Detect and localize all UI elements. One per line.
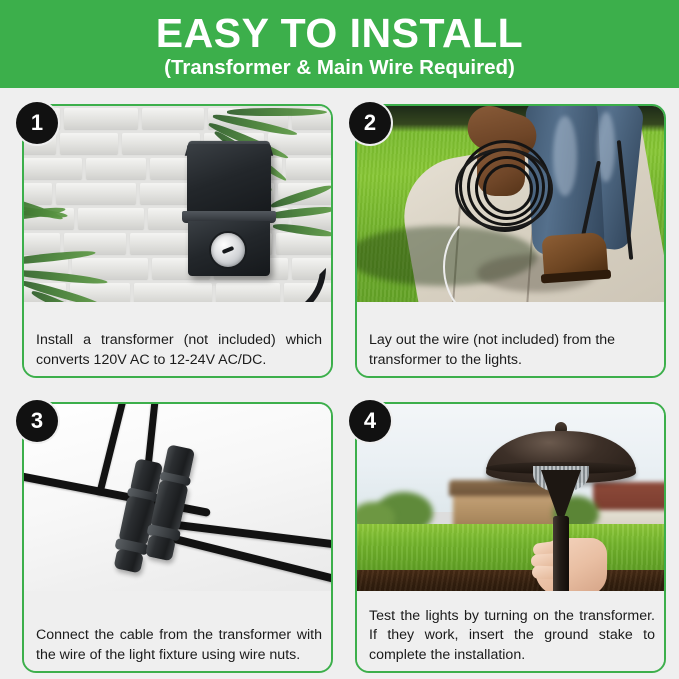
page-title: EASY TO INSTALL [156, 11, 523, 55]
step-badge-1: 1 [16, 102, 58, 144]
cable-connectors-photo [24, 404, 331, 591]
step-badge-2: 2 [349, 102, 391, 144]
installing-path-light-photo [357, 404, 664, 591]
transformer-on-brick-wall-photo [24, 106, 331, 302]
palm-frond-group-left [24, 192, 100, 252]
step-card-3: Connect the cable from the transformer w… [22, 402, 333, 673]
header-banner: EASY TO INSTALL (Transformer & Main Wire… [0, 0, 679, 88]
step-caption-3: Connect the cable from the transformer w… [24, 619, 331, 671]
palm-frond-group-right [267, 196, 331, 256]
transformer-timer-dial [209, 231, 247, 269]
step-badge-4: 4 [349, 400, 391, 442]
palm-frond-group-bottom-left [24, 254, 142, 302]
steps-grid: Install a transformer (not included) whi… [0, 88, 679, 679]
step-badge-3: 3 [16, 400, 58, 442]
soil-texture [357, 570, 664, 591]
step-caption-4: Test the lights by turning on the transf… [357, 600, 664, 672]
laying-out-wire-photo [357, 106, 664, 302]
step-card-2: Lay out the wire (not included) from the… [355, 104, 666, 378]
step-caption-2: Lay out the wire (not included) from the… [357, 324, 664, 376]
step-caption-1: Install a transformer (not included) whi… [24, 324, 331, 376]
page-subtitle: (Transformer & Main Wire Required) [164, 56, 515, 80]
lawn-texture [357, 524, 664, 572]
transformer-power-cord [244, 268, 326, 302]
step-card-4: Test the lights by turning on the transf… [355, 402, 666, 673]
step-card-1: Install a transformer (not included) whi… [22, 104, 333, 378]
